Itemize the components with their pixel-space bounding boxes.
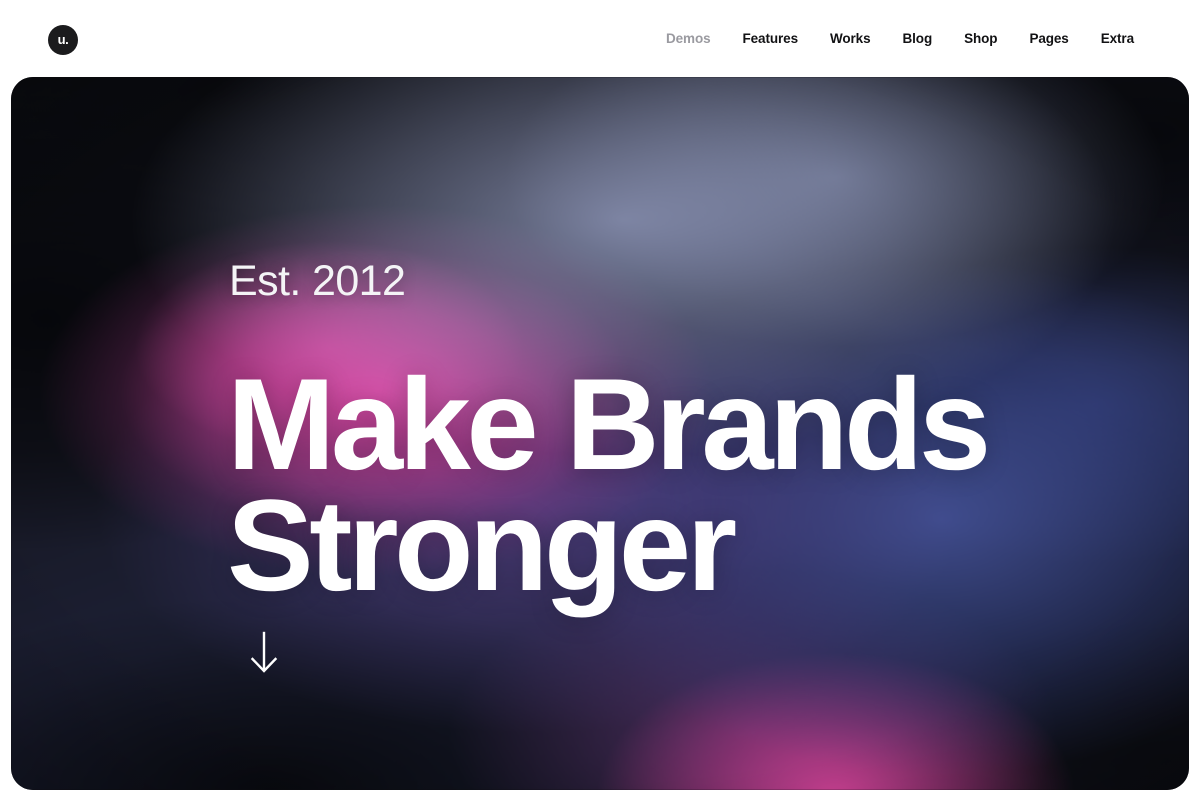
hero-section: Est. 2012 Make Brands Stronger <box>11 77 1189 790</box>
hero-title-line-2: Stronger <box>227 485 987 606</box>
hero-title-line-1: Make Brands <box>227 364 987 485</box>
nav-item-extra[interactable]: Extra <box>1101 31 1134 46</box>
page-root: u. Demos Features Works Blog Shop Pages … <box>0 0 1200 800</box>
nav-item-demos[interactable]: Demos <box>666 31 711 46</box>
brand-logo[interactable]: u. <box>48 25 78 55</box>
site-header: u. Demos Features Works Blog Shop Pages … <box>0 0 1200 77</box>
nav-item-shop[interactable]: Shop <box>964 31 997 46</box>
hero-title: Make Brands Stronger <box>227 364 987 606</box>
hero-content: Est. 2012 Make Brands Stronger <box>229 77 1189 790</box>
nav-item-blog[interactable]: Blog <box>903 31 933 46</box>
main-nav: Demos Features Works Blog Shop Pages Ext… <box>666 31 1134 46</box>
nav-item-pages[interactable]: Pages <box>1029 31 1068 46</box>
hero-eyebrow: Est. 2012 <box>229 260 405 303</box>
scroll-down-button[interactable] <box>244 629 284 677</box>
nav-item-features[interactable]: Features <box>743 31 798 46</box>
arrow-down-icon <box>244 629 284 677</box>
nav-item-works[interactable]: Works <box>830 31 871 46</box>
brand-logo-mark: u. <box>58 33 69 46</box>
